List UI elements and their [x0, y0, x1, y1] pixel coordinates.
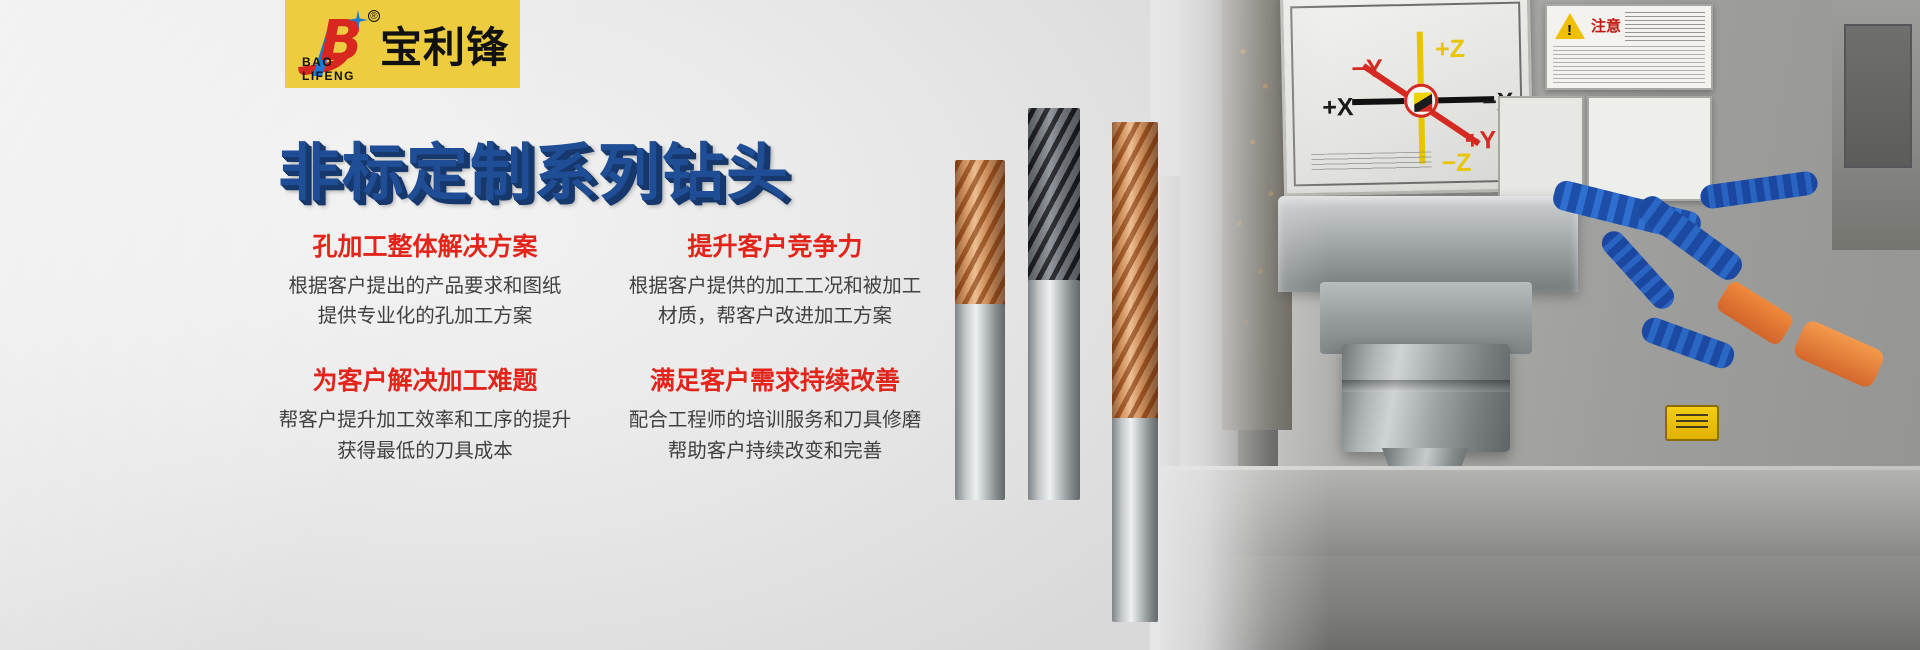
logo-english-name: BAO LIFENG [302, 55, 374, 83]
drill-shank [1028, 280, 1080, 500]
feature-item-1: 孔加工整体解决方案 根据客户提出的产品要求和图纸 提供专业化的孔加工方案 [250, 232, 600, 331]
product-drill-bit-2 [1028, 108, 1080, 500]
axis-label-pos-z: +Z [1435, 37, 1465, 63]
feature-title: 提升客户竞争力 [600, 232, 950, 262]
logo-chinese-name: 宝利锋 [380, 14, 509, 75]
drill-flute-coated [1112, 122, 1158, 422]
page-title: 非标定制系列钻头 [278, 122, 790, 212]
feature-line: 帮助客户持续改变和完善 [600, 436, 950, 466]
axis-arrow-x-left [1352, 98, 1404, 105]
feature-title: 为客户解决加工难题 [250, 366, 600, 396]
axis-cube-icon [1414, 92, 1432, 111]
feature-line: 材质，帮客户改进加工方案 [600, 301, 950, 331]
feature-item-2: 提升客户竞争力 根据客户提供的加工工况和被加工 材质，帮客户改进加工方案 [600, 232, 950, 331]
coolant-hose-e [1597, 226, 1679, 313]
feature-item-4: 满足客户需求持续改善 配合工程师的培训服务和刀具修磨 帮助客户持续改变和完善 [600, 366, 950, 465]
feature-title: 孔加工整体解决方案 [250, 232, 600, 262]
drill-flute-coated [955, 160, 1005, 310]
coolant-nozzle-b [1792, 318, 1887, 390]
warning-fineprint-top [1625, 12, 1705, 44]
warning-title: 注意 [1591, 15, 1621, 36]
tool-chuck [1342, 344, 1510, 452]
feature-line: 根据客户提出的产品要求和图纸 [250, 271, 600, 301]
product-drill-bit-3 [1112, 122, 1158, 622]
axis-label-neg-y: −Y [1351, 57, 1383, 83]
feature-item-3: 为客户解决加工难题 帮客户提升加工效率和工序的提升 获得最低的刀具成本 [250, 366, 600, 465]
warning-sticker: 注意 [1545, 4, 1713, 90]
feature-grid: 孔加工整体解决方案 根据客户提出的产品要求和图纸 提供专业化的孔加工方案 提升客… [250, 232, 950, 466]
coolant-nozzle-a [1715, 279, 1796, 347]
drill-shank [1112, 418, 1158, 622]
feature-line: 获得最低的刀具成本 [250, 436, 600, 466]
feature-line: 根据客户提供的加工工况和被加工 [600, 271, 950, 301]
registered-trademark-icon: ® [368, 10, 380, 22]
feature-title: 满足客户需求持续改善 [600, 366, 950, 396]
yellow-caution-label [1665, 405, 1719, 441]
drill-flute-dark [1028, 108, 1080, 283]
feature-line: 配合工程师的培训服务和刀具修磨 [600, 405, 950, 435]
warning-fineprint-body [1553, 46, 1705, 83]
axis-label-pos-y: +Y [1465, 128, 1497, 154]
feature-row-1: 孔加工整体解决方案 根据客户提出的产品要求和图纸 提供专业化的孔加工方案 提升客… [250, 232, 950, 331]
machine-label-diagram [1587, 96, 1712, 201]
company-logo[interactable]: B ® BAO LIFENG 宝利锋 [285, 0, 520, 88]
logo-mark-icon: B ® BAO LIFENG [296, 8, 374, 80]
photo-blend-seam [1150, 0, 1330, 650]
warning-triangle-icon [1555, 13, 1585, 39]
promo-banner: −Y +Z +X −X −Z +Y 注意 [0, 0, 1920, 650]
feature-line: 提供专业化的孔加工方案 [250, 301, 600, 331]
feature-line: 帮客户提升加工效率和工序的提升 [250, 405, 600, 435]
feature-row-2: 为客户解决加工难题 帮客户提升加工效率和工序的提升 获得最低的刀具成本 满足客户… [250, 366, 950, 465]
coolant-hose-c [1638, 314, 1737, 371]
product-drill-bit-1 [955, 160, 1005, 500]
coolant-hose-upper [1699, 170, 1819, 210]
machine-side-panel [1832, 0, 1920, 250]
drill-shank [955, 304, 1005, 500]
